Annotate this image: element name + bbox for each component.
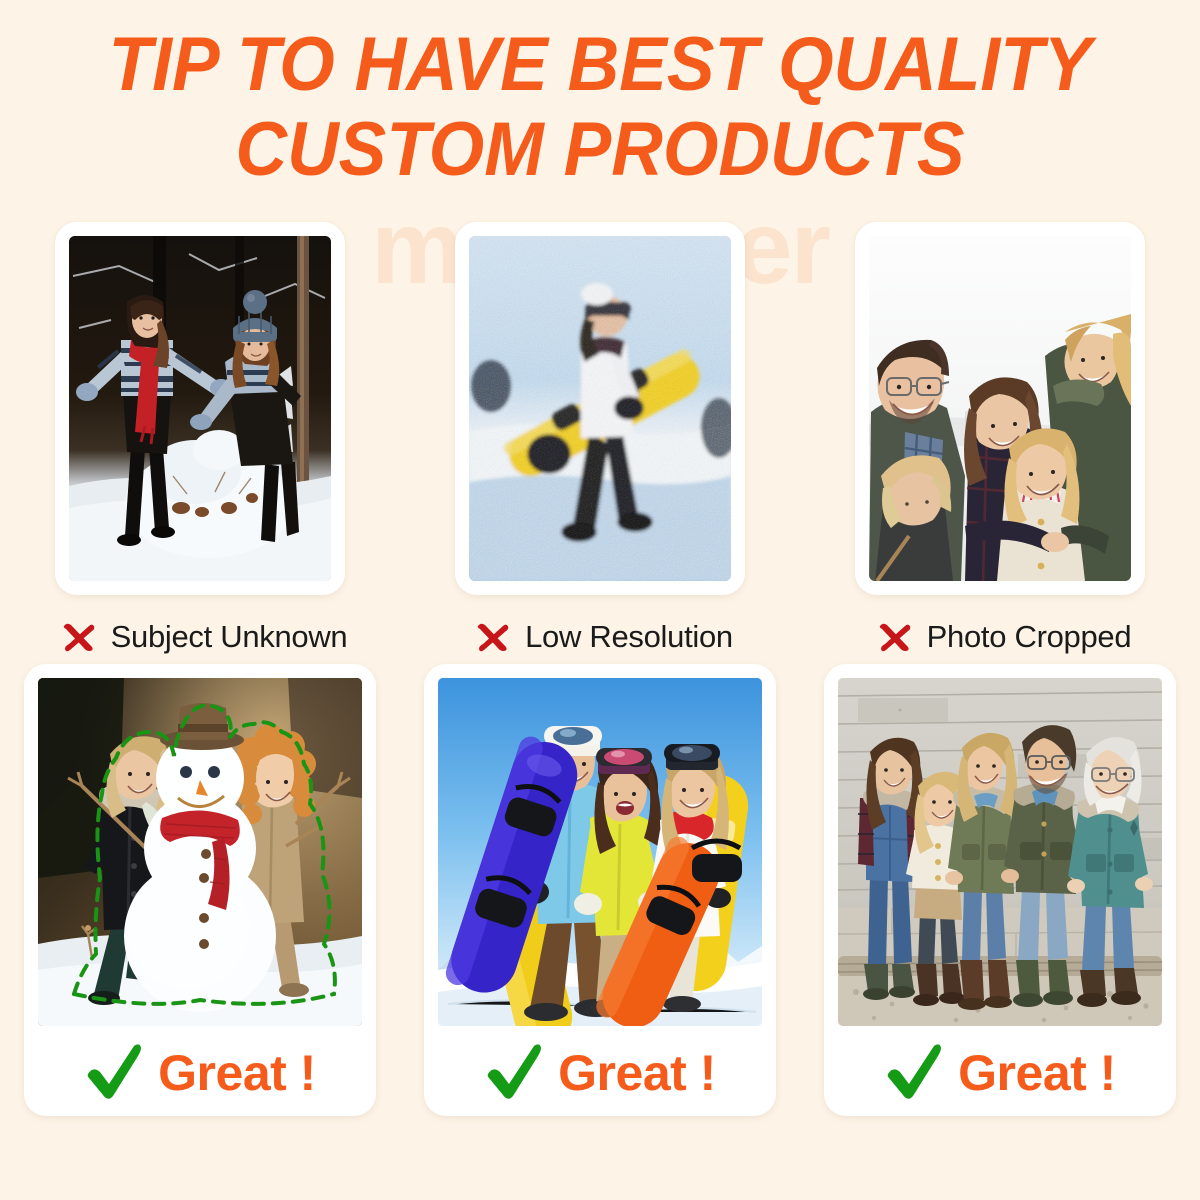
status-label-text: Great !: [158, 1044, 316, 1102]
example-great-snowman: Great !: [0, 664, 400, 1142]
status-label-text: Photo Cropped: [927, 619, 1132, 655]
status-label-low-resolution: Low Resolution: [467, 617, 733, 657]
status-label-subject-unknown: Subject Unknown: [53, 617, 348, 657]
status-label-text: Great !: [958, 1044, 1116, 1102]
red-x-icon: [473, 617, 513, 657]
photo-great-snowboarders: [438, 678, 762, 1026]
photo-card: Great !: [24, 664, 376, 1116]
green-check-icon: [484, 1044, 544, 1102]
photo-card: [55, 222, 345, 595]
status-label-text: Great !: [558, 1044, 716, 1102]
status-label-great-family: Great !: [884, 1040, 1116, 1106]
example-great-snowboarders: Great !: [400, 664, 800, 1142]
photo-low-resolution: [469, 236, 731, 581]
example-subject-unknown: Subject Unknown: [0, 222, 400, 664]
page-title-line-1: TIP TO HAVE BEST QUALITY: [36, 22, 1164, 107]
red-x-icon: [59, 617, 99, 657]
status-label-photo-cropped: Photo Cropped: [869, 617, 1132, 657]
example-great-family: Great !: [800, 664, 1200, 1142]
status-label-text: Subject Unknown: [111, 619, 348, 655]
photo-subject-unknown: [69, 236, 331, 581]
photo-card: [455, 222, 745, 595]
photo-card: Great !: [824, 664, 1176, 1116]
green-check-icon: [84, 1044, 144, 1102]
photo-card: [855, 222, 1145, 595]
example-low-resolution: Low Resolution: [400, 222, 800, 664]
green-check-icon: [884, 1044, 944, 1102]
photo-great-snowman: [38, 678, 362, 1026]
photo-photo-cropped: [869, 236, 1131, 581]
example-photo-cropped: Photo Cropped: [800, 222, 1200, 664]
examples-grid: Subject Unknown: [0, 222, 1200, 1182]
page-title: TIP TO HAVE BEST QUALITY CUSTOM PRODUCTS: [0, 22, 1200, 192]
status-label-text: Low Resolution: [525, 619, 733, 655]
status-label-great-snowman: Great !: [84, 1040, 316, 1106]
photo-card: Great !: [424, 664, 776, 1116]
red-x-icon: [875, 617, 915, 657]
status-label-great-snowboarders: Great !: [484, 1040, 716, 1106]
photo-great-family: [838, 678, 1162, 1026]
page-title-line-2: CUSTOM PRODUCTS: [36, 107, 1164, 192]
